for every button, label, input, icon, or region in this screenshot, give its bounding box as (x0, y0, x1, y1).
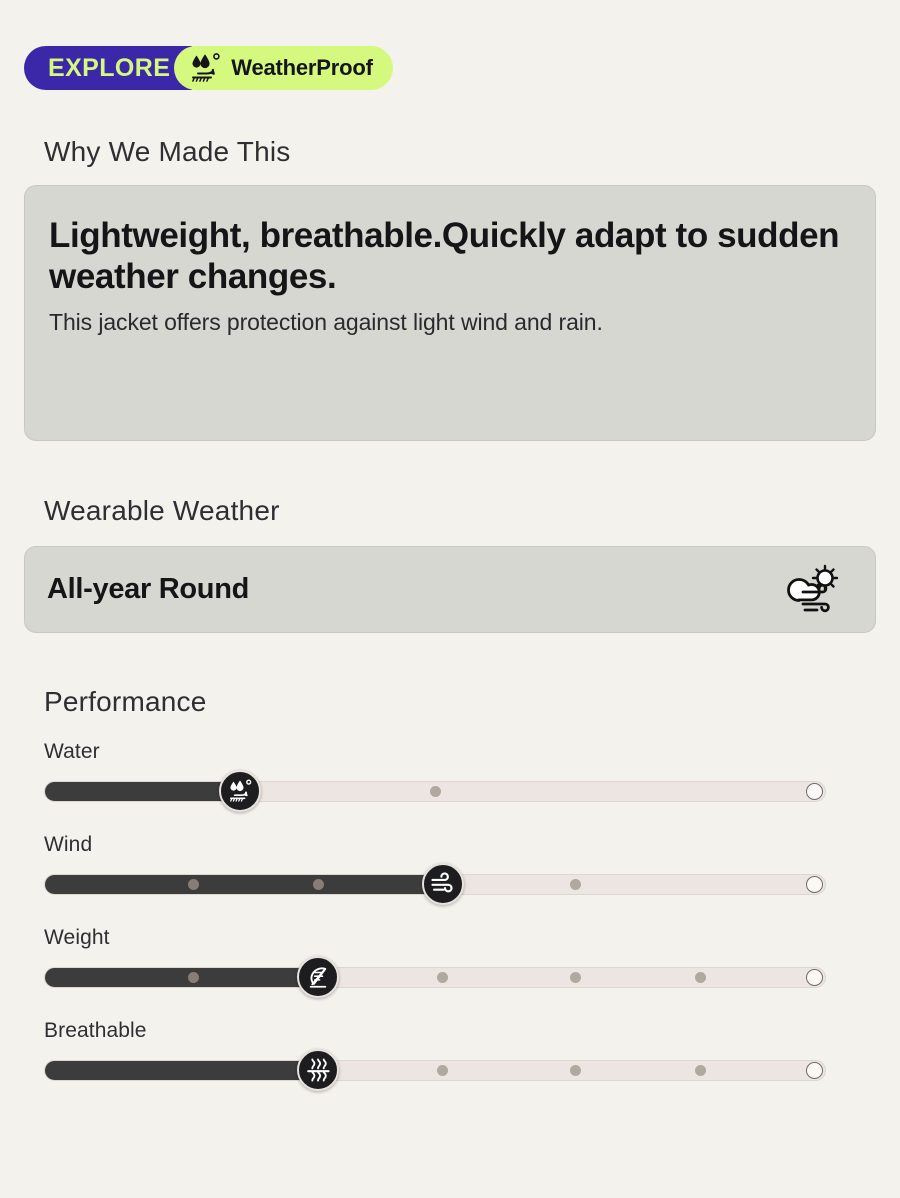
slider-thumb-wind[interactable] (422, 863, 464, 905)
slider-thumb-water[interactable] (219, 770, 261, 812)
slider-track-wrap[interactable] (44, 1053, 826, 1087)
breathable-icon (305, 1057, 331, 1083)
slider-water: Water (44, 740, 826, 808)
brand-name: WeatherProof (231, 57, 372, 79)
brand-pill[interactable]: WeatherProof (174, 46, 392, 90)
water-repellent-icon (188, 52, 222, 84)
feather-icon (305, 964, 331, 990)
slider-weight: Weight (44, 926, 826, 994)
slider-track-wrap[interactable] (44, 960, 826, 994)
slider-tick[interactable] (188, 972, 199, 983)
slider-label: Water (44, 740, 826, 764)
explore-badge[interactable]: EXPLORE WeatherProof (24, 46, 393, 90)
slider-tick[interactable] (695, 1065, 706, 1076)
slider-label: Breathable (44, 1019, 826, 1043)
slider-tick[interactable] (188, 879, 199, 890)
why-subtitle: This jacket offers protection against li… (49, 309, 845, 336)
slider-tick[interactable] (313, 879, 324, 890)
explore-weatherproof-page: EXPLORE WeatherProof Why We Made This Li… (0, 0, 900, 1198)
slider-fill (45, 968, 318, 987)
slider-fill (45, 782, 240, 801)
slider-tick[interactable] (570, 879, 581, 890)
slider-end-cap[interactable] (806, 969, 823, 986)
cloud-sun-wind-icon (781, 564, 843, 616)
slider-track-wrap[interactable] (44, 867, 826, 901)
performance-section-heading: Performance (44, 686, 207, 718)
slider-tick[interactable] (570, 1065, 581, 1076)
slider-tick[interactable] (570, 972, 581, 983)
slider-breathable: Breathable (44, 1019, 826, 1087)
wearable-weather-value: All-year Round (47, 573, 249, 606)
why-section-heading: Why We Made This (44, 136, 290, 168)
slider-label: Weight (44, 926, 826, 950)
slider-tick[interactable] (437, 972, 448, 983)
slider-fill (45, 875, 443, 894)
slider-end-cap[interactable] (806, 876, 823, 893)
performance-sliders: WaterWindWeightBreathable (44, 740, 826, 1087)
slider-track[interactable] (44, 1060, 826, 1081)
slider-thumb-breathable[interactable] (297, 1049, 339, 1091)
slider-end-cap[interactable] (806, 783, 823, 800)
slider-track[interactable] (44, 967, 826, 988)
slider-thumb-weight[interactable] (297, 956, 339, 998)
slider-wind: Wind (44, 833, 826, 901)
slider-fill (45, 1061, 318, 1080)
slider-track[interactable] (44, 874, 826, 895)
explore-badge-label: EXPLORE (24, 46, 192, 90)
slider-tick[interactable] (695, 972, 706, 983)
wearable-section-heading: Wearable Weather (44, 495, 280, 527)
slider-label: Wind (44, 833, 826, 857)
why-card: Lightweight, breathable.Quickly adapt to… (24, 185, 876, 441)
why-title: Lightweight, breathable.Quickly adapt to… (49, 216, 845, 297)
slider-track-wrap[interactable] (44, 774, 826, 808)
slider-end-cap[interactable] (806, 1062, 823, 1079)
slider-tick[interactable] (430, 786, 441, 797)
slider-track[interactable] (44, 781, 826, 802)
wind-icon (430, 871, 456, 897)
slider-tick[interactable] (437, 1065, 448, 1076)
wearable-weather-card[interactable]: All-year Round (24, 546, 876, 633)
water-repellent-icon (227, 778, 253, 804)
